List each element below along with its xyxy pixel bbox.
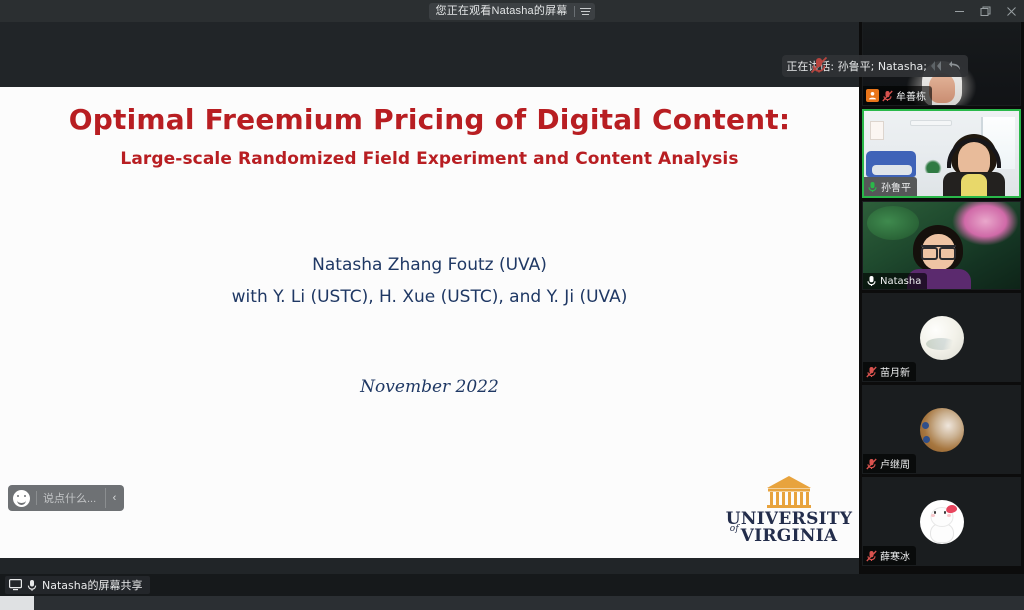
chat-collapse-button[interactable]: ‹ xyxy=(105,488,121,508)
brown-avatar-icon xyxy=(920,408,964,452)
uva-logo-line2: VIRGINIA xyxy=(741,526,838,546)
screen-share-chip[interactable]: Natasha的屏幕共享 xyxy=(5,576,150,594)
participant-tile[interactable]: 薛寒冰 xyxy=(862,477,1021,566)
slide-subtitle: Large-scale Randomized Field Experiment … xyxy=(0,149,859,169)
participant-tile[interactable]: 孙鲁平 xyxy=(862,109,1021,198)
screen-share-label: Natasha的屏幕共享 xyxy=(42,577,142,593)
participant-tile[interactable]: 卢继周 xyxy=(862,385,1021,474)
title-bar: 您正在观看Natasha的屏幕 xyxy=(0,0,1024,22)
mic-unmuted-icon xyxy=(866,275,877,287)
zoom-meeting-window: 您正在观看Natasha的屏幕 Optimal Freemium Pricing… xyxy=(0,0,1024,610)
chat-divider xyxy=(36,491,37,505)
mic-icon xyxy=(27,579,37,592)
rotunda-icon xyxy=(763,475,815,509)
participant-name: 孙鲁平 xyxy=(881,179,911,194)
screen-share-icon xyxy=(9,579,22,591)
hamburger-icon[interactable] xyxy=(580,6,593,17)
viewing-screen-pill[interactable]: 您正在观看Natasha的屏幕 xyxy=(429,3,596,20)
speaking-label: 正在讲话: 孙鲁平; Natasha; xyxy=(786,58,927,74)
close-button[interactable] xyxy=(998,0,1024,22)
participant-rail[interactable]: 牟善栋 孙鲁平 xyxy=(859,22,1024,588)
mic-muted-icon xyxy=(866,366,877,378)
participant-tile[interactable]: 苗月新 xyxy=(862,293,1021,382)
mic-active-icon xyxy=(867,181,878,193)
screen-share-status-bar: Natasha的屏幕共享 xyxy=(0,574,1024,596)
slide-date: November 2022 xyxy=(0,377,859,397)
banner-mic-muted-icon xyxy=(810,56,828,74)
participant-nameplate: 牟善栋 xyxy=(863,86,932,105)
chat-input[interactable]: 说点什么... xyxy=(43,490,105,506)
chat-composer[interactable]: 说点什么... ‹ xyxy=(8,485,124,511)
os-taskbar[interactable] xyxy=(0,596,1024,610)
taskbar-item[interactable] xyxy=(0,596,34,610)
participant-name: 牟善栋 xyxy=(896,88,926,103)
slide-author-secondary: with Y. Li (USTC), H. Xue (USTC), and Y.… xyxy=(0,287,859,307)
mic-muted-icon xyxy=(882,90,893,102)
uva-logo-of: of xyxy=(730,525,739,534)
shared-screen-area[interactable]: Optimal Freemium Pricing of Digital Cont… xyxy=(0,22,859,588)
slide-title: Optimal Freemium Pricing of Digital Cont… xyxy=(0,103,859,136)
window-controls xyxy=(946,0,1024,22)
pill-divider xyxy=(574,6,575,17)
participant-name: 苗月新 xyxy=(880,364,910,379)
speaking-wave-icon xyxy=(929,59,945,73)
participant-nameplate: 薛寒冰 xyxy=(863,546,916,565)
participant-name: 卢继周 xyxy=(880,456,910,471)
restore-button[interactable] xyxy=(972,0,998,22)
slide-author-primary: Natasha Zhang Foutz (UVA) xyxy=(0,255,859,275)
participant-name: 薛寒冰 xyxy=(880,548,910,563)
participant-nameplate: 苗月新 xyxy=(863,362,916,381)
participant-tile[interactable]: Natasha xyxy=(862,201,1021,290)
participant-nameplate: 孙鲁平 xyxy=(864,177,917,196)
cat-avatar-icon xyxy=(920,500,964,544)
mic-muted-icon xyxy=(866,550,877,562)
host-badge-icon xyxy=(866,89,879,102)
reply-arrow-icon[interactable] xyxy=(948,60,962,72)
viewing-screen-label: 您正在观看Natasha的屏幕 xyxy=(436,3,568,20)
moon-avatar-icon xyxy=(920,316,964,360)
mic-muted-icon xyxy=(866,458,877,470)
presentation-slide: Optimal Freemium Pricing of Digital Cont… xyxy=(0,87,859,558)
smiley-icon[interactable] xyxy=(13,490,30,507)
participant-name: Natasha xyxy=(880,276,921,287)
minimize-button[interactable] xyxy=(946,0,972,22)
participant-nameplate: Natasha xyxy=(863,273,927,289)
uva-logo: UNIVERSITY of VIRGINIA xyxy=(733,475,845,553)
participant-nameplate: 卢继周 xyxy=(863,454,916,473)
